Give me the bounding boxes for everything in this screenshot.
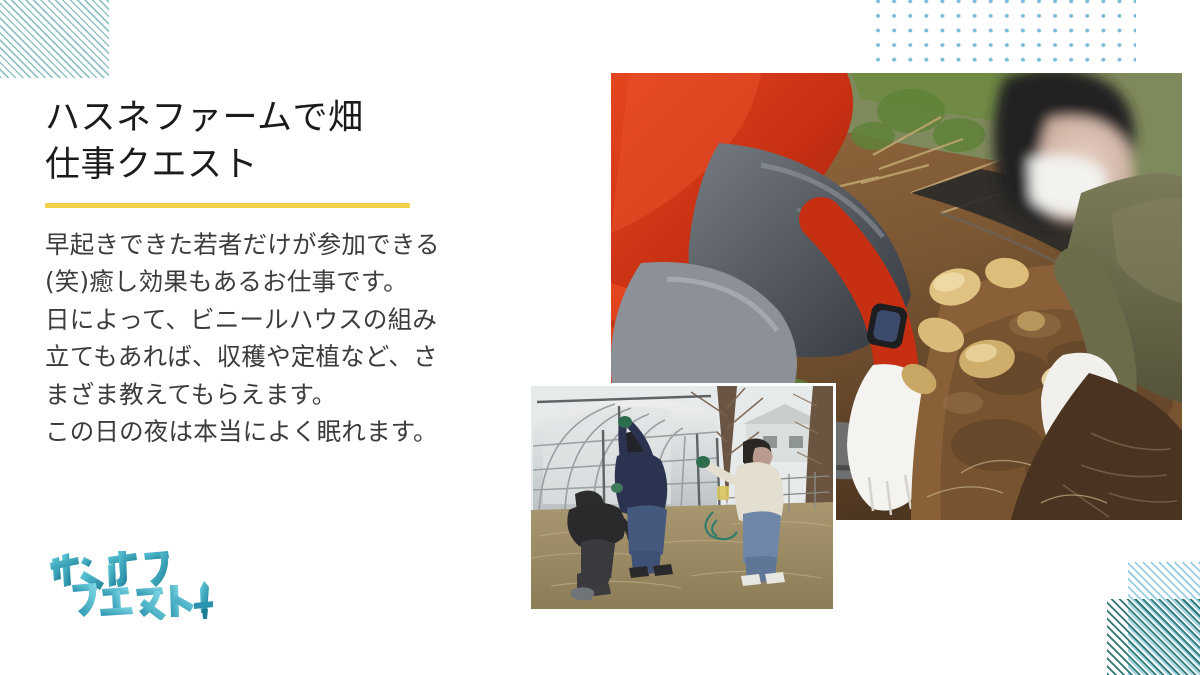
photo-greenhouse-work	[528, 383, 836, 612]
body-text: 早起きできた若者だけが参加できる (笑)癒し効果もあるお仕事です。 日によって、…	[45, 226, 495, 451]
diagonal-stripes-icon	[0, 0, 109, 78]
logo-sankaku-quest[interactable]: サンカクエスト	[48, 545, 213, 620]
diagonal-stripes-dark-icon	[1107, 599, 1200, 675]
presentation-slide: ハスネファームで畑 仕事クエスト 早起きできた若者だけが参加できる (笑)癒し効…	[0, 0, 1200, 675]
page-title: ハスネファームで畑 仕事クエスト	[45, 95, 515, 189]
sword-icon	[194, 581, 213, 619]
dot-grid-icon	[868, 0, 1136, 64]
title-divider	[45, 203, 410, 208]
